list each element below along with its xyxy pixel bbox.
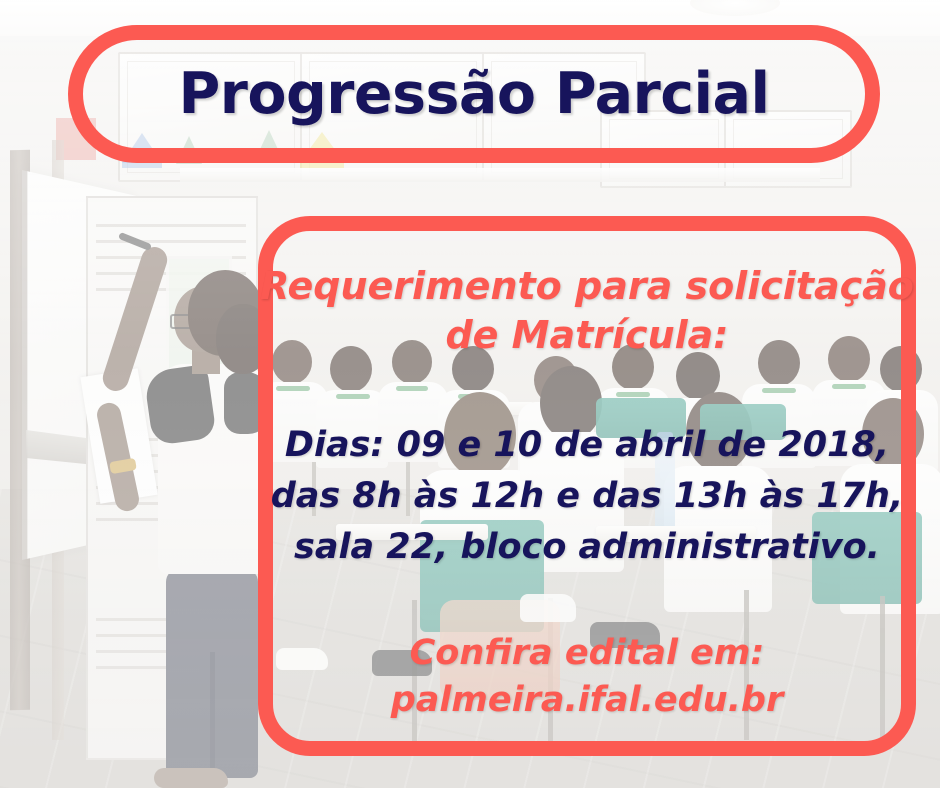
decor-shelf [180, 168, 820, 182]
schedule-location-line: sala 22, bloco administrativo. [258, 522, 916, 573]
request-heading-line-2: de Matrícula: [258, 311, 916, 360]
page-title: Progressão Parcial [68, 25, 880, 163]
request-heading-line-1: Requerimento para solicitação [258, 262, 916, 311]
edital-link-label: Confira edital em: [258, 630, 916, 677]
request-heading: Requerimento para solicitação de Matrícu… [258, 262, 916, 359]
schedule-details: Dias: 09 e 10 de abril de 2018, das 8h à… [258, 420, 916, 573]
schedule-hours-line: das 8h às 12h e das 13h às 17h, [258, 471, 916, 522]
edital-link-url[interactable]: palmeira.ifal.edu.br [258, 677, 916, 724]
poster-root: Progressão Parcial Requerimento para sol… [0, 0, 940, 788]
edital-link-block: Confira edital em: palmeira.ifal.edu.br [258, 630, 916, 724]
schedule-dates-line: Dias: 09 e 10 de abril de 2018, [258, 420, 916, 471]
